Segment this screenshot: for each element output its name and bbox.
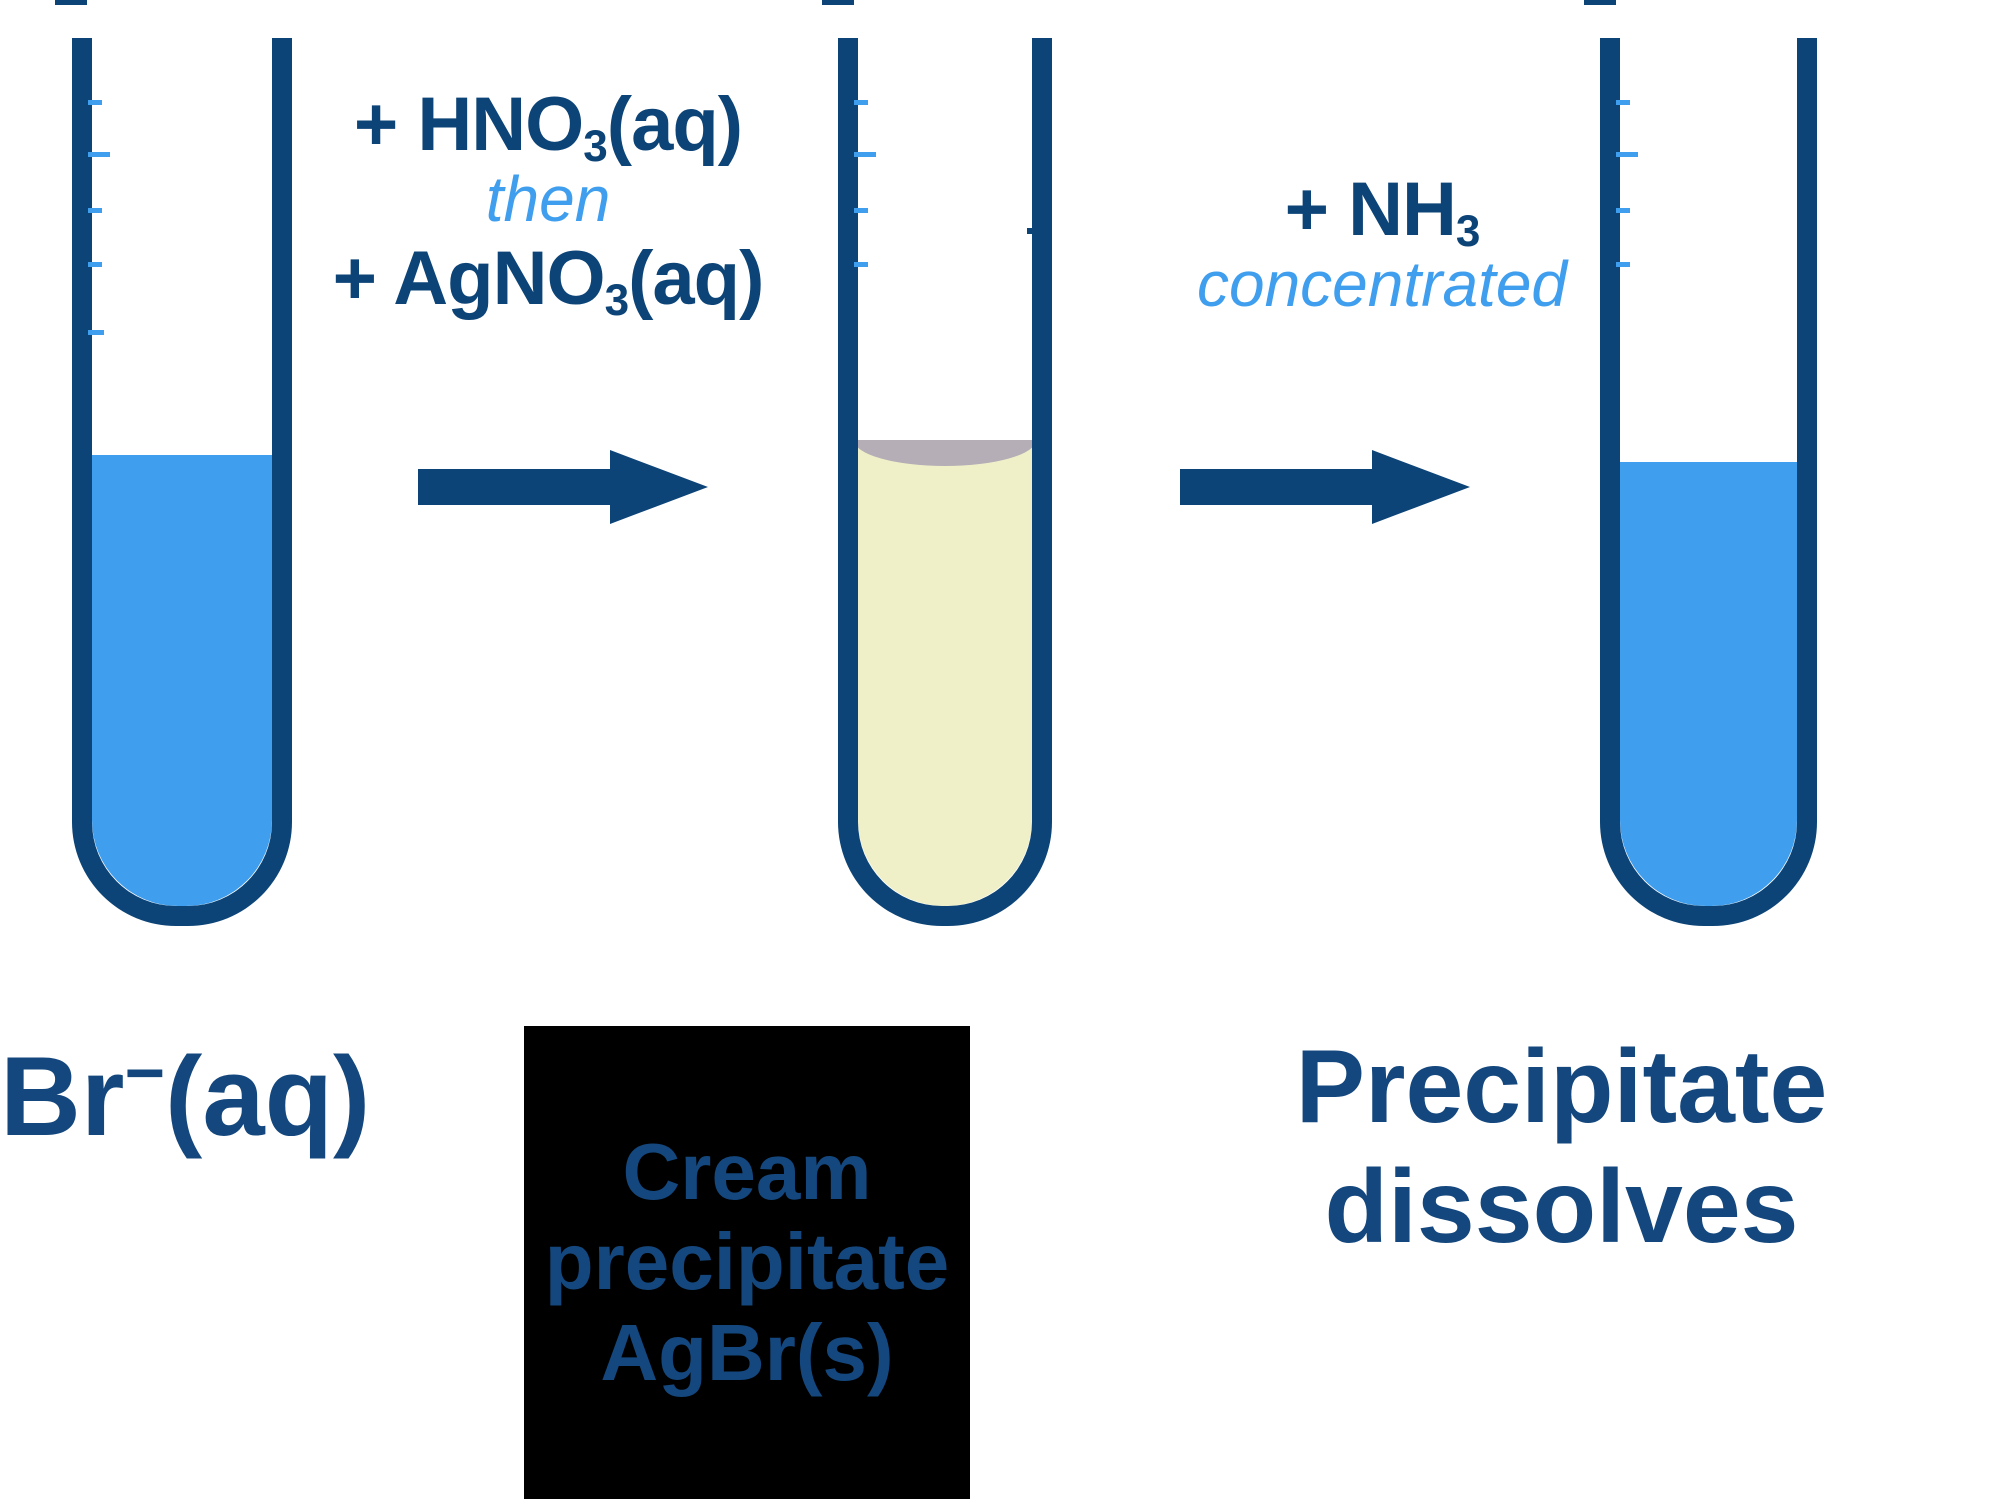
graduation-tick (88, 330, 104, 335)
graduation-tick (854, 100, 868, 105)
tube-top-rim-mark (1584, 0, 1616, 5)
reagent-step-1-line-2: + AgNO3(aq) (288, 239, 808, 318)
graduation-tick (88, 100, 102, 105)
graduation-tick (854, 208, 868, 213)
reagent-step-2-qualifier: concentrated (1152, 251, 1612, 318)
reagent-step-1: + HNO3(aq) then + AgNO3(aq) (288, 85, 808, 318)
graduation-tick (1616, 152, 1638, 157)
test-tube-2-glass (838, 38, 1052, 926)
caption-left: Br−(aq) (0, 1038, 370, 1157)
reagent-step-2: + NH3 concentrated (1152, 170, 1612, 318)
tube-top-rim-mark (55, 0, 87, 5)
graduation-tick (1616, 208, 1630, 213)
caption-right-line-2: dissolves (1118, 1152, 2005, 1262)
arrow-step-2 (1180, 450, 1470, 524)
caption-right: Precipitate dissolves (1118, 1032, 2005, 1262)
tube-side-mark (1027, 228, 1037, 234)
arrow-step-1 (418, 450, 708, 524)
test-tube-3-glass (1600, 38, 1817, 926)
caption-right-line-1: Precipitate (1118, 1032, 2005, 1142)
caption-middle-box: Cream precipitate AgBr(s) (524, 1026, 970, 1499)
chemistry-reaction-diagram: + HNO3(aq) then + AgNO3(aq) + NH3 concen… (0, 0, 2005, 1499)
reagent-step-2-line-1: + NH3 (1152, 170, 1612, 249)
graduation-tick (854, 152, 876, 157)
caption-left-charge: − (124, 1034, 165, 1112)
graduation-tick (854, 262, 868, 267)
graduation-tick (88, 152, 110, 157)
caption-middle-text: Cream precipitate AgBr(s) (545, 1127, 950, 1398)
caption-left-species: Br (0, 1034, 124, 1159)
test-tube-3 (1600, 38, 1817, 926)
graduation-tick (88, 262, 102, 267)
reagent-step-1-connector: then (288, 166, 808, 233)
graduation-tick (1616, 100, 1630, 105)
test-tube-1 (72, 38, 292, 926)
test-tube-1-glass (72, 38, 292, 926)
test-tube-2 (838, 38, 1052, 926)
reagent-step-1-line-1: + HNO3(aq) (288, 85, 808, 164)
caption-left-state: (aq) (165, 1034, 370, 1159)
tube-top-rim-mark (822, 0, 854, 5)
graduation-tick (88, 208, 102, 213)
graduation-tick (1616, 262, 1630, 267)
